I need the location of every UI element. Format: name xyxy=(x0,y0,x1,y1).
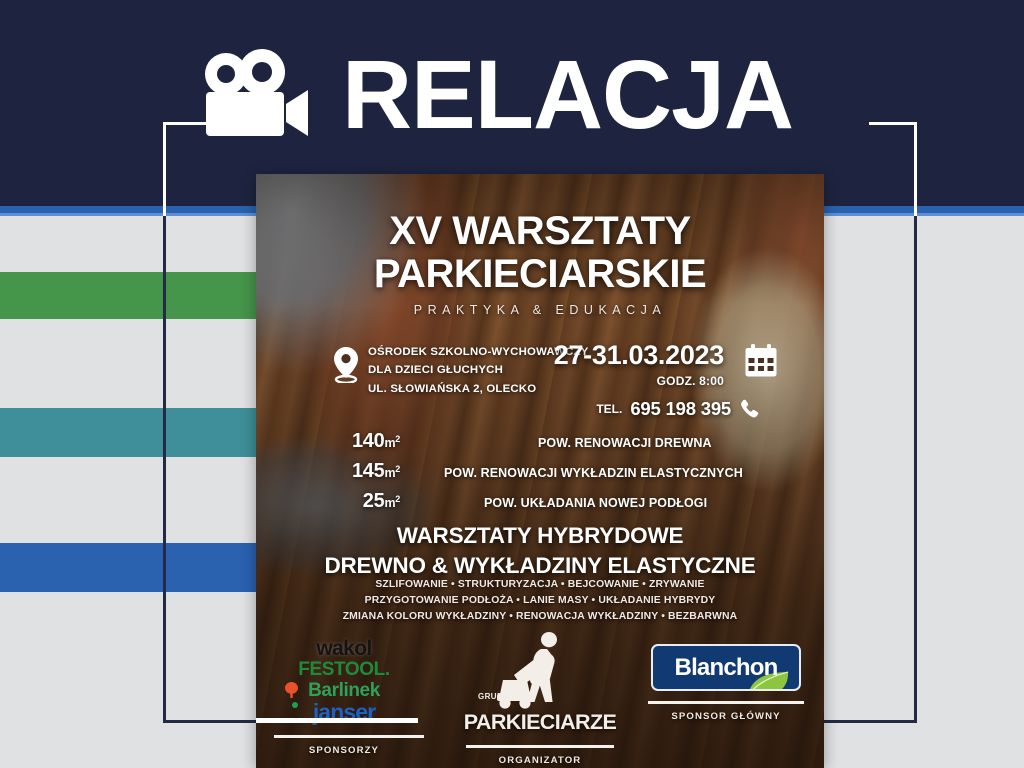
sponsors-caption: SPONSORZY xyxy=(274,745,414,756)
sponsors-caption-rule xyxy=(274,735,424,738)
stat-description: POW. RENOWACJI WYKŁADZIN ELASTYCZNYCH xyxy=(444,466,743,480)
organizer-block: GRUPA PARKIECIARZE ORGANIZATOR xyxy=(452,630,628,766)
poster-footer: wakol FESTOOL. Barlinek janser SPONSORZY xyxy=(256,628,824,768)
poster-info-row: OŚRODEK SZKOLNO-WYCHOWAWCZY DLA DZIECI G… xyxy=(256,340,824,422)
stat-number: 145 xyxy=(352,460,384,482)
phone-label: TEL. xyxy=(596,402,622,416)
tags-line-3: ZMIANA KOLORU WYKŁADZINY • RENOWACJA WYK… xyxy=(256,609,824,625)
stat-value: 145m2 xyxy=(256,460,416,483)
frame-top-right-line xyxy=(869,122,917,125)
poster-subtitle: PRAKTYKA & EDUKACJA xyxy=(256,303,824,317)
hybrid-line-1: WARSZTATY HYBRYDOWE xyxy=(256,523,824,549)
page-root: RELACJA XV WARSZTATY PARKIECIARSKIE PRAK… xyxy=(0,0,1024,768)
main-sponsor-block: Blanchon SPONSOR GŁÓWNY xyxy=(646,644,806,722)
hybrid-line-2: DREWNO & WYKŁADZINY ELASTYCZNE xyxy=(256,553,824,579)
event-poster[interactable]: XV WARSZTATY PARKIECIARSKIE PRAKTYKA & E… xyxy=(256,174,824,768)
stat-unit: m2 xyxy=(384,466,400,480)
stat-value: 25m2 xyxy=(256,490,416,513)
calendar-icon xyxy=(744,344,778,378)
phone-number: 695 198 395 xyxy=(630,398,731,420)
poster-hybrid-block: WARSZTATY HYBRYDOWE DREWNO & WYKŁADZINY … xyxy=(256,523,824,579)
organizer-caption-rule xyxy=(466,745,614,748)
poster-title-line-1: XV WARSZTATY xyxy=(256,210,824,253)
tags-line-2: PRZYGOTOWANIE PODŁOŻA • LANIE MASY • UKŁ… xyxy=(256,593,824,609)
header-banner: RELACJA xyxy=(196,42,793,146)
map-pin-icon xyxy=(332,347,360,383)
main-sponsor-caption: SPONSOR GŁÓWNY xyxy=(646,711,806,722)
main-sponsor-caption-rule xyxy=(648,701,804,704)
logo-blanchon: Blanchon xyxy=(651,644,801,691)
organizer-logo-text: PARKIECIARZE xyxy=(452,710,628,735)
logo-barlinek-text: Barlinek xyxy=(308,680,380,701)
page-title: RELACJA xyxy=(342,46,793,143)
frame-right-line-dark xyxy=(914,216,917,723)
poster-date-block: 27-31.03.2023 GODZ. 8:00 xyxy=(554,340,724,388)
stat-unit: m2 xyxy=(384,436,400,450)
phone-icon xyxy=(739,399,760,420)
organizer-logo-small: GRUPA xyxy=(478,692,508,701)
sponsors-block: wakol FESTOOL. Barlinek janser SPONSORZY xyxy=(274,638,414,756)
frame-bottom-left-white-rule xyxy=(256,718,418,723)
event-start-hour: GODZ. 8:00 xyxy=(554,374,724,388)
stat-description: POW. RENOWACJI DREWNA xyxy=(538,436,712,450)
logo-festool: FESTOOL. xyxy=(274,660,414,679)
poster-area-stats: 140m2 POW. RENOWACJI DREWNA 145m2 POW. R… xyxy=(256,430,824,520)
stat-description: POW. UKŁADANIA NOWEJ PODŁOGI xyxy=(484,496,707,510)
floor-sander-worker-icon xyxy=(487,630,593,716)
frame-left-line-dark xyxy=(163,216,166,723)
video-camera-icon xyxy=(196,48,316,140)
poster-title-line-2: PARKIECIARSKIE xyxy=(256,253,824,296)
logo-blanchon-text: Blanchon xyxy=(675,654,778,682)
stat-number: 25 xyxy=(363,490,385,512)
stat-unit: m2 xyxy=(384,496,400,510)
stat-row: 25m2 POW. UKŁADANIA NOWEJ PODŁOGI xyxy=(256,490,824,513)
poster-topic-tags: SZLIFOWANIE • STRUKTURYZACJA • BEJCOWANI… xyxy=(256,577,824,624)
stat-row: 145m2 POW. RENOWACJI WYKŁADZIN ELASTYCZN… xyxy=(256,460,824,483)
logo-wakol: wakol xyxy=(274,638,414,659)
barlinek-tree-icon xyxy=(284,682,299,698)
logo-barlinek: Barlinek xyxy=(274,681,414,700)
poster-headline: XV WARSZTATY PARKIECIARSKIE PRAKTYKA & E… xyxy=(256,210,824,317)
organizer-caption: ORGANIZATOR xyxy=(452,755,628,766)
poster-phone-block[interactable]: TEL. 695 198 395 xyxy=(596,398,760,420)
stat-value: 140m2 xyxy=(256,430,416,453)
tags-line-1: SZLIFOWANIE • STRUKTURYZACJA • BEJCOWANI… xyxy=(256,577,824,593)
event-date-range: 27-31.03.2023 xyxy=(554,340,724,371)
stat-number: 140 xyxy=(352,430,384,452)
janser-dot-icon xyxy=(292,702,298,708)
stat-row: 140m2 POW. RENOWACJI DREWNA xyxy=(256,430,824,453)
